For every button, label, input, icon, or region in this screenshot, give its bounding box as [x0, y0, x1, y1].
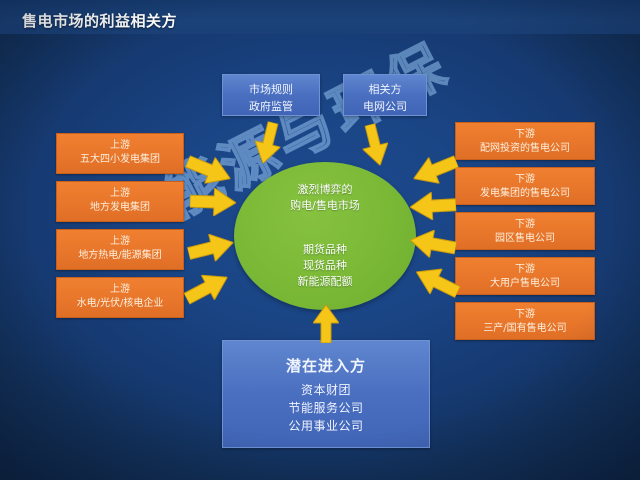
arrow-top-left [250, 119, 285, 166]
top-box-1-line2: 政府监管 [249, 100, 293, 113]
right-box-3-line2: 园区售电公司 [456, 232, 594, 246]
left-box-3-line1: 上游 [57, 235, 183, 249]
arrow-left-3 [185, 229, 236, 267]
left-box-4-line2: 水电/光伏/核电企业 [57, 297, 183, 311]
arrow-left-1 [182, 148, 235, 191]
center-bottom-line3: 新能源配额 [298, 275, 353, 288]
right-box-5[interactable]: 下游 三产/国有售电公司 [455, 302, 595, 340]
left-box-2-line2: 地方发电集团 [57, 201, 183, 215]
bottom-box-line2: 节能服务公司 [223, 399, 429, 417]
center-bottom-line1: 期货品种 [303, 243, 347, 256]
center-bottom-line2: 现货品种 [303, 259, 347, 272]
center-top-line1: 激烈博弈的 [298, 183, 353, 196]
right-box-3[interactable]: 下游 园区售电公司 [455, 212, 595, 250]
top-box-grid-company[interactable]: 相关方 电网公司 [343, 74, 427, 116]
arrow-right-2 [409, 191, 456, 221]
arrow-bottom-up [313, 305, 339, 343]
left-box-4-line1: 上游 [57, 283, 183, 297]
slide-canvas: 售电市场的利益相关方 能源与环保 市场规则 政府监管 相关方 电网公司 上游 五… [0, 0, 640, 480]
left-box-2[interactable]: 上游 地方发电集团 [56, 181, 184, 222]
left-box-3-line2: 地方热电/能源集团 [57, 249, 183, 263]
top-box-market-rules[interactable]: 市场规则 政府监管 [222, 74, 320, 116]
left-box-4[interactable]: 上游 水电/光伏/核电企业 [56, 277, 184, 318]
arrow-left-2 [190, 187, 237, 217]
left-box-2-line1: 上游 [57, 187, 183, 201]
arrow-right-1 [408, 148, 461, 191]
page-title: 售电市场的利益相关方 [22, 10, 177, 31]
top-box-2-line1: 相关方 [369, 83, 402, 96]
right-box-5-line1: 下游 [456, 308, 594, 322]
right-box-2[interactable]: 下游 发电集团的售电公司 [455, 167, 595, 205]
center-market-ellipse[interactable]: 激烈博弈的 购电/售电市场 期货品种 现货品种 新能源配额 [234, 162, 416, 310]
right-box-1-line2: 配网投资的售电公司 [456, 142, 594, 156]
arrow-top-right [357, 121, 392, 168]
center-bottom-text: 期货品种 现货品种 新能源配额 [234, 242, 416, 290]
bottom-box-line3: 公用事业公司 [223, 417, 429, 435]
right-box-5-line2: 三产/国有售电公司 [456, 322, 594, 336]
right-box-4[interactable]: 下游 大用户售电公司 [455, 257, 595, 295]
right-box-1-line1: 下游 [456, 128, 594, 142]
center-top-text: 激烈博弈的 购电/售电市场 [234, 182, 416, 214]
right-box-4-line2: 大用户售电公司 [456, 277, 594, 291]
left-box-1[interactable]: 上游 五大四小发电集团 [56, 133, 184, 174]
right-box-3-line1: 下游 [456, 218, 594, 232]
bottom-box-potential-entrants[interactable]: 潜在进入方 资本财团 节能服务公司 公用事业公司 [222, 340, 430, 448]
right-box-2-line2: 发电集团的售电公司 [456, 187, 594, 201]
center-top-line2: 购电/售电市场 [290, 199, 360, 212]
left-box-3[interactable]: 上游 地方热电/能源集团 [56, 229, 184, 270]
top-box-2-line2: 电网公司 [363, 100, 407, 113]
right-box-1[interactable]: 下游 配网投资的售电公司 [455, 122, 595, 160]
right-box-2-line1: 下游 [456, 173, 594, 187]
left-box-1-line1: 上游 [57, 139, 183, 153]
left-box-1-line2: 五大四小发电集团 [57, 153, 183, 167]
top-box-1-line1: 市场规则 [249, 83, 293, 96]
arrow-left-4 [180, 265, 234, 311]
bottom-box-line1: 资本财团 [223, 381, 429, 399]
right-box-4-line1: 下游 [456, 263, 594, 277]
bottom-box-heading: 潜在进入方 [223, 355, 429, 378]
